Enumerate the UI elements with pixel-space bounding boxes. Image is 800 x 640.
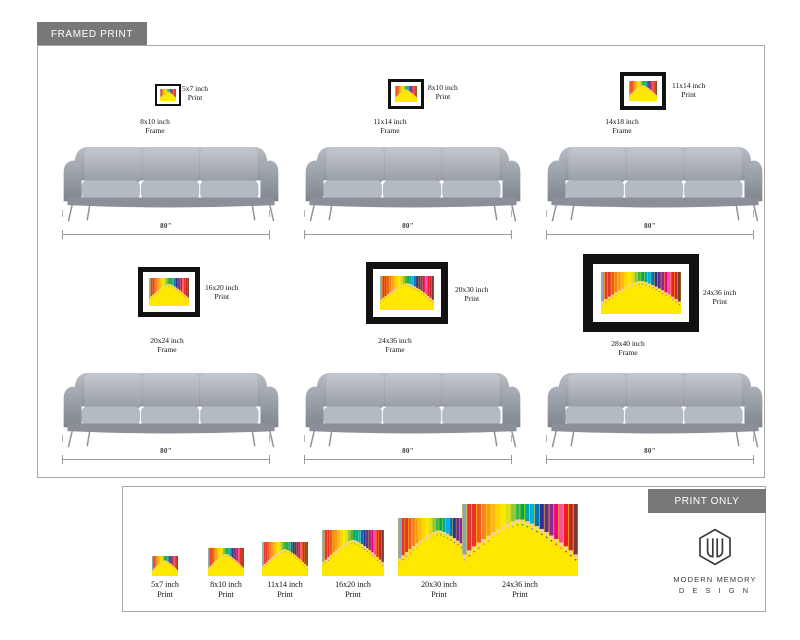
print-only-item: 5x7 inchPrint	[137, 556, 193, 600]
artwork-colored-pencils	[262, 542, 308, 576]
frame-size-label: 24x36 inchFrame	[350, 336, 440, 355]
sofa-width-label: 80"	[304, 447, 512, 455]
framed-print-preview	[366, 262, 448, 324]
sofa-width-dimension: 80"	[546, 447, 754, 467]
sofa-width-label: 80"	[62, 447, 270, 455]
sofa-illustration	[300, 357, 526, 452]
artwork-colored-pencils	[322, 530, 384, 576]
print-only-size-label: 16x20 inchPrint	[322, 580, 384, 600]
tab-print-only[interactable]: PRINT ONLY	[648, 489, 766, 513]
artwork-colored-pencils	[629, 81, 657, 101]
frame-mat	[143, 272, 195, 312]
sofa-width-dimension: 80"	[304, 447, 512, 467]
print-size-label: 20x30 inchPrint	[455, 285, 489, 304]
framed-print-preview	[620, 72, 666, 110]
sofa-width-dimension: 80"	[62, 222, 270, 242]
sofa-illustration	[58, 131, 284, 226]
sofa-width-dimension: 80"	[62, 447, 270, 467]
tab-framed-print-label: FRAMED PRINT	[51, 29, 133, 40]
print-size-label: 11x14 inchPrint	[672, 81, 705, 100]
sofa-width-label: 80"	[62, 222, 270, 230]
print-only-size-label: 8x10 inchPrint	[198, 580, 254, 600]
poster-canvas: FRAMED PRINT 5x7 inchPrint8x10 inchFrame…	[0, 0, 800, 640]
frame-mat	[624, 76, 662, 106]
print-only-item: 8x10 inchPrint	[198, 548, 254, 600]
framed-print-preview	[388, 79, 424, 109]
print-only-size-label: 5x7 inchPrint	[137, 580, 193, 600]
artwork-colored-pencils	[395, 86, 417, 102]
brand-name: MODERN MEMORY	[660, 575, 770, 584]
frame-mat	[373, 269, 441, 317]
print-only-size-label: 24x36 inchPrint	[462, 580, 578, 600]
frame-mat	[593, 264, 689, 322]
sofa-illustration	[542, 131, 768, 226]
print-size-label: 16x20 inchPrint	[205, 283, 239, 302]
artwork-colored-pencils	[601, 272, 681, 314]
sofa-width-label: 80"	[546, 447, 754, 455]
print-size-label: 8x10 inchPrint	[428, 83, 458, 102]
artwork-colored-pencils	[149, 278, 189, 306]
artwork-colored-pencils	[208, 548, 244, 576]
modern-memory-hexagon-monogram-icon	[660, 528, 770, 571]
tab-print-only-label: PRINT ONLY	[674, 496, 739, 507]
sofa-width-dimension: 80"	[546, 222, 754, 242]
sofa-illustration	[542, 357, 768, 452]
framed-print-preview	[583, 254, 699, 332]
frame-size-label: 28x40 inchFrame	[583, 339, 673, 358]
sofa-width-label: 80"	[304, 222, 512, 230]
print-only-item: 11x14 inchPrint	[257, 542, 313, 600]
sofa-width-dimension: 80"	[304, 222, 512, 242]
artwork-colored-pencils	[152, 556, 178, 576]
framed-print-preview	[155, 84, 181, 106]
print-only-item: 24x36 inchPrint	[462, 504, 578, 600]
sofa-illustration	[300, 131, 526, 226]
sofa-illustration	[58, 357, 284, 452]
framed-print-preview	[138, 267, 200, 317]
print-size-label: 5x7 inchPrint	[182, 84, 208, 103]
tab-framed-print[interactable]: FRAMED PRINT	[37, 22, 147, 46]
frame-size-label: 20x24 inchFrame	[122, 336, 212, 355]
print-size-label: 24x36 inchPrint	[703, 288, 737, 307]
artwork-colored-pencils	[160, 89, 176, 101]
print-only-item: 16x20 inchPrint	[322, 530, 384, 600]
sofa-width-label: 80"	[546, 222, 754, 230]
print-only-size-label: 11x14 inchPrint	[257, 580, 313, 600]
artwork-colored-pencils	[380, 276, 434, 310]
artwork-colored-pencils	[462, 504, 578, 576]
brand-tagline: D E S I G N	[660, 586, 770, 595]
frame-mat	[391, 82, 421, 106]
brand-logo: MODERN MEMORY D E S I G N	[660, 528, 770, 595]
frame-mat	[157, 86, 179, 104]
